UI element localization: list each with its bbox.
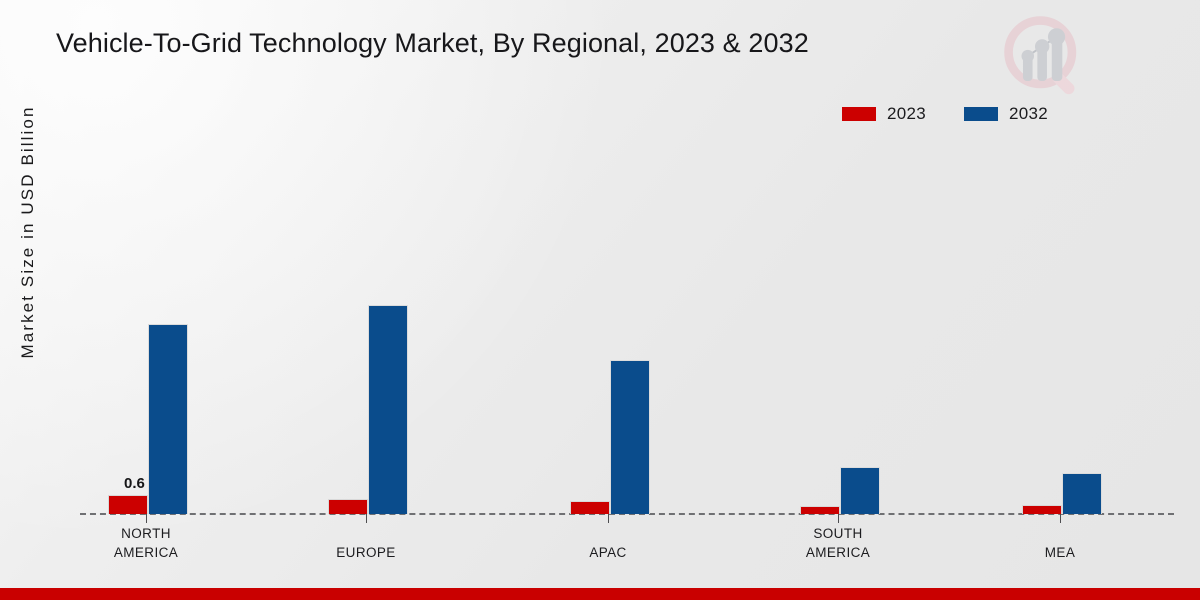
bar-2023-europe[interactable]	[328, 499, 368, 514]
bar-pair	[570, 360, 650, 514]
x-tick-south-america	[838, 514, 839, 523]
x-label-mea: MEA	[960, 543, 1160, 562]
chart-figure: Vehicle-To-Grid Technology Market, By Re…	[0, 0, 1200, 600]
bar-pair	[108, 324, 188, 514]
bar-value-label-north-america-2023: 0.6	[124, 475, 145, 492]
bar-pair	[800, 467, 880, 514]
bar-2032-north-america[interactable]	[148, 324, 188, 514]
x-tick-europe	[366, 514, 367, 523]
bar-2023-apac[interactable]	[570, 501, 610, 514]
bar-2023-south-america[interactable]	[800, 506, 840, 514]
plot-area: 0.6 NORTH AMERICA EUROPE APAC	[0, 0, 1200, 600]
bar-2032-europe[interactable]	[368, 305, 408, 514]
bar-2023-mea[interactable]	[1022, 505, 1062, 514]
bar-2032-apac[interactable]	[610, 360, 650, 514]
bar-pair	[1022, 473, 1102, 514]
x-label-south-america: SOUTH AMERICA	[738, 524, 938, 562]
bar-pair	[328, 305, 408, 514]
x-label-europe: EUROPE	[266, 543, 466, 562]
x-label-north-america: NORTH AMERICA	[46, 524, 246, 562]
x-label-apac: APAC	[508, 543, 708, 562]
bar-2023-north-america[interactable]	[108, 495, 148, 514]
bar-2032-south-america[interactable]	[840, 467, 880, 514]
x-tick-apac	[608, 514, 609, 523]
x-tick-mea	[1060, 514, 1061, 523]
x-tick-north-america	[146, 514, 147, 523]
footer-stripe	[0, 588, 1200, 600]
bar-2032-mea[interactable]	[1062, 473, 1102, 514]
